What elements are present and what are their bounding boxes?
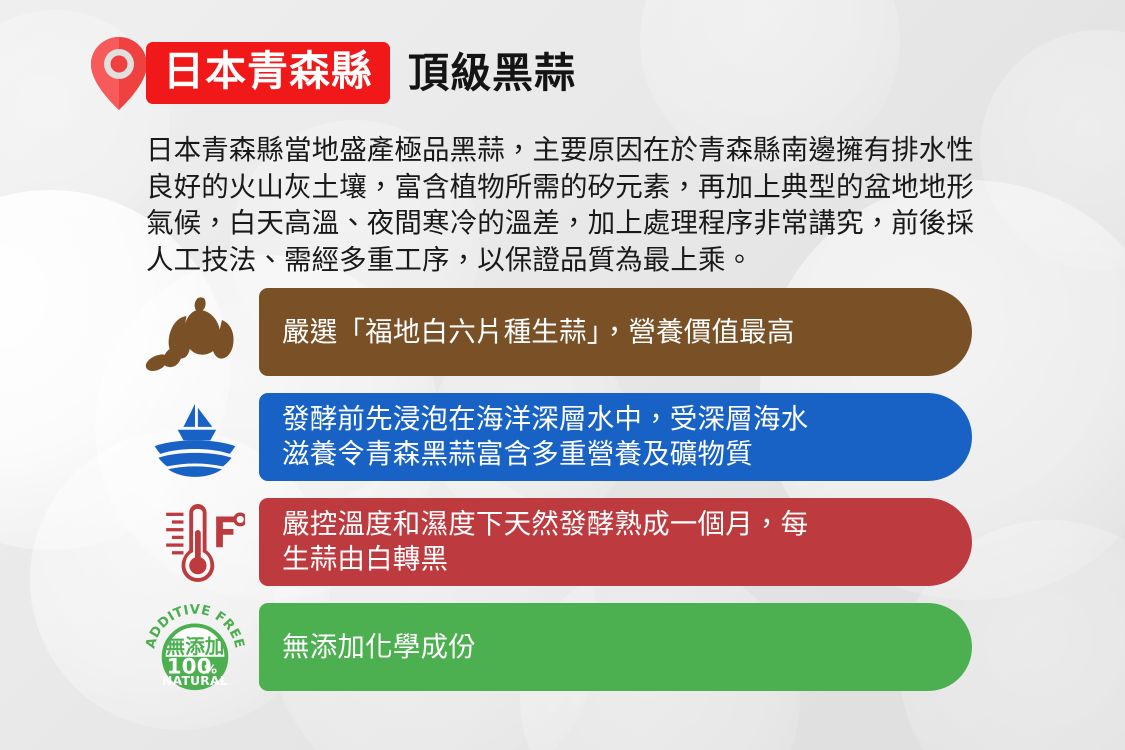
feature-row: 發酵前先浸泡在海洋深層水中，受深層海水 滋養令青森黑蒜富含多重營養及礦物質 <box>0 393 1125 481</box>
page-header: 日本青森縣 頂級黑蒜 <box>88 36 576 110</box>
feature-row: 嚴控溫度和濕度下天然發酵熟成一個月，每 生蒜由白轉黑 <box>0 498 1125 586</box>
intro-text: 日本青森縣當地盛產極品黑蒜，主要原因在於青森縣南邊擁有排水性良好的火山灰土壤，富… <box>146 132 988 278</box>
feature-line: 發酵前先浸泡在海洋深層水中，受深層海水 <box>282 402 808 437</box>
feature-line: 生蒜由白轉黑 <box>282 542 808 577</box>
region-badge: 日本青森縣 <box>146 42 390 104</box>
bokeh-circle <box>980 30 1125 270</box>
thermometer-icon <box>143 498 247 586</box>
page-title: 頂級黑蒜 <box>408 53 576 94</box>
additive-free-badge-icon: ADDITIVE FREE 無添加 100 % NATURAL <box>143 603 247 691</box>
feature-text: 發酵前先浸泡在海洋深層水中，受深層海水 滋養令青森黑蒜富含多重營養及礦物質 <box>282 402 808 471</box>
feature-row: ADDITIVE FREE 無添加 100 % NATURAL 無添加化學成份 <box>0 603 1125 691</box>
feature-bar-garlic: 嚴選「福地白六片種生蒜」，營養價值最高 <box>259 288 972 376</box>
feature-line: 嚴選「福地白六片種生蒜」，營養價值最高 <box>282 315 795 350</box>
feature-text: 嚴選「福地白六片種生蒜」，營養價值最高 <box>282 315 795 350</box>
intro-paragraph: 日本青森縣當地盛產極品黑蒜，主要原因在於青森縣南邊擁有排水性良好的火山灰土壤，富… <box>146 132 988 278</box>
badge-natural-text: NATURAL <box>162 674 228 688</box>
feature-line: 滋養令青森黑蒜富含多重營養及礦物質 <box>282 437 808 472</box>
feature-bar-additive-free: 無添加化學成份 <box>259 603 972 691</box>
infographic-poster: 日本青森縣 頂級黑蒜 日本青森縣當地盛產極品黑蒜，主要原因在於青森縣南邊擁有排水… <box>0 0 1125 750</box>
feature-bar-temperature: 嚴控溫度和濕度下天然發酵熟成一個月，每 生蒜由白轉黑 <box>259 498 972 586</box>
feature-text: 嚴控溫度和濕度下天然發酵熟成一個月，每 生蒜由白轉黑 <box>282 507 808 576</box>
feature-row: 嚴選「福地白六片種生蒜」，營養價值最高 <box>0 288 1125 376</box>
feature-line: 無添加化學成份 <box>282 630 476 665</box>
garlic-bulb-icon <box>143 288 247 376</box>
location-pin-icon <box>88 36 150 110</box>
feature-line: 嚴控溫度和濕度下天然發酵熟成一個月，每 <box>282 507 808 542</box>
feature-text: 無添加化學成份 <box>282 630 476 665</box>
feature-bar-ocean: 發酵前先浸泡在海洋深層水中，受深層海水 滋養令青森黑蒜富含多重營養及礦物質 <box>259 393 972 481</box>
feature-list: 嚴選「福地白六片種生蒜」，營養價值最高 <box>0 288 1125 708</box>
sailboat-ocean-icon <box>143 393 247 481</box>
